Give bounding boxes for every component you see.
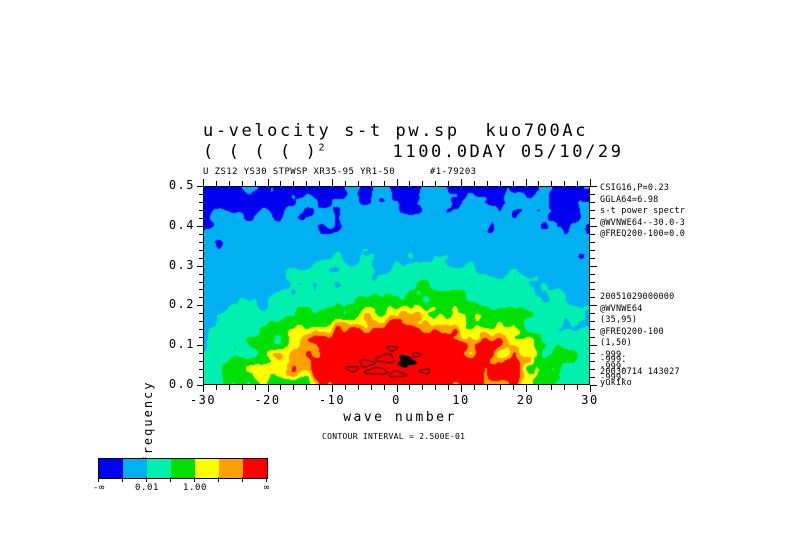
subtitle-metadata: U ZS12 YS30 STPWSP XR35-95 YR1-50 #1-792…: [203, 167, 476, 177]
y-axis-tick-label: 0.0: [149, 377, 195, 391]
y-axis-minor-tick: [199, 289, 204, 290]
x-axis-top-tick: [526, 179, 527, 186]
y-axis-right-tick: [590, 250, 595, 251]
x-axis-minor-tick: [409, 385, 410, 390]
x-axis-minor-tick: [319, 385, 320, 390]
y-axis-right-tick: [590, 202, 595, 203]
y-axis-minor-tick: [199, 210, 204, 211]
x-axis-top-tick: [551, 181, 552, 186]
x-axis-minor-tick: [371, 385, 372, 390]
y-axis-minor-tick: [199, 234, 204, 235]
y-axis-tick-label: 0.3: [149, 258, 195, 272]
y-axis-tick-mark: [197, 345, 204, 346]
x-axis-top-tick: [409, 181, 410, 186]
x-axis-minor-tick: [345, 385, 346, 390]
x-axis-minor-tick: [293, 385, 294, 390]
spectrum-heatmap-canvas: [204, 187, 589, 384]
x-axis-tick-mark: [590, 385, 591, 392]
y-axis-right-tick: [590, 297, 595, 298]
y-axis-right-tick: [590, 313, 595, 314]
y-axis-minor-tick: [199, 218, 204, 219]
y-axis-right-tick: [590, 353, 595, 354]
x-axis-top-tick: [538, 181, 539, 186]
x-axis-top-tick: [577, 181, 578, 186]
colorbar-tick-mark: [98, 477, 99, 482]
colorbar-swatch: [123, 459, 147, 478]
x-axis-top-tick: [461, 179, 462, 186]
y-axis-right-tick: [590, 210, 595, 211]
y-axis-tick-mark: [197, 266, 204, 267]
y-axis-tick-mark: [197, 186, 204, 187]
colorbar-swatch: [147, 459, 171, 478]
y-axis-minor-tick: [199, 361, 204, 362]
colorbar-ticks: [98, 477, 268, 482]
x-axis-top-tick: [564, 181, 565, 186]
y-axis-tick-label: 0.4: [149, 218, 195, 232]
y-axis-right-tick: [590, 345, 597, 346]
x-axis-top-tick: [384, 181, 385, 186]
y-axis-tick-label: 0.5: [149, 178, 195, 192]
y-axis-minor-tick: [199, 258, 204, 259]
colorbar-tick-mark: [218, 477, 219, 482]
colorbar-tick-label: 0.01: [134, 483, 160, 493]
x-axis-minor-tick: [538, 385, 539, 390]
title-secondary-line: ( ( ( ( )21100.0DAY 05/10/29: [203, 142, 624, 162]
x-axis-top-tick: [397, 179, 398, 186]
x-axis-top-tick: [345, 181, 346, 186]
x-axis-tick-mark: [268, 385, 269, 392]
x-axis-tick-mark: [332, 385, 333, 392]
y-axis-minor-tick: [199, 321, 204, 322]
colorbar-tick-mark: [170, 477, 171, 482]
x-axis-tick-label: -30: [178, 393, 228, 407]
x-axis-minor-tick: [551, 385, 552, 390]
x-axis-top-tick: [590, 179, 591, 186]
x-axis-top-tick: [293, 181, 294, 186]
x-axis-top-tick: [216, 181, 217, 186]
x-axis-top-tick: [474, 181, 475, 186]
x-axis-tick-label: -20: [243, 393, 293, 407]
annotation-block-top: CSIG16,P=0.23 GGLA64=6.98 s-t power spec…: [600, 183, 685, 241]
colorbar-swatch: [99, 459, 123, 478]
colorbar-tick-label: ∞: [254, 483, 280, 493]
page-title: u-velocity s-t pw.sp kuo700Ac: [203, 121, 588, 141]
contour-interval-caption: CONTOUR INTERVAL = 2.500E-01: [322, 432, 465, 441]
y-axis-minor-tick: [199, 242, 204, 243]
x-axis-minor-tick: [280, 385, 281, 390]
y-axis-right-tick: [590, 329, 595, 330]
y-axis-minor-tick: [199, 194, 204, 195]
x-axis-top-tick: [332, 179, 333, 186]
y-axis-right-tick: [590, 385, 597, 386]
contour-plot-area: [203, 186, 590, 385]
colorbar-tick-mark: [194, 477, 195, 482]
x-axis-tick-label: 10: [436, 393, 486, 407]
y-axis-minor-tick: [199, 297, 204, 298]
x-axis-minor-tick: [306, 385, 307, 390]
y-axis-minor-tick: [199, 369, 204, 370]
x-axis-top-tick: [229, 181, 230, 186]
x-axis-minor-tick: [422, 385, 423, 390]
y-axis-minor-tick: [199, 202, 204, 203]
y-axis-tick-mark: [197, 305, 204, 306]
x-axis-tick-mark: [526, 385, 527, 392]
x-axis-top-tick: [268, 179, 269, 186]
x-axis-minor-tick: [577, 385, 578, 390]
x-axis-minor-tick: [487, 385, 488, 390]
x-axis-minor-tick: [255, 385, 256, 390]
x-axis-tick-label: 30: [565, 393, 615, 407]
colorbar-swatch: [243, 459, 267, 478]
x-axis-top-tick: [203, 179, 204, 186]
colorbar-swatch: [219, 459, 243, 478]
y-axis-minor-tick: [199, 282, 204, 283]
y-axis-tick-label: 0.2: [149, 297, 195, 311]
x-axis-minor-tick: [564, 385, 565, 390]
x-axis-top-tick: [358, 181, 359, 186]
y-axis-right-tick: [590, 186, 597, 187]
x-axis-minor-tick: [448, 385, 449, 390]
y-axis-right-tick: [590, 321, 595, 322]
colorbar-tick-mark: [266, 477, 267, 482]
x-axis-minor-tick: [384, 385, 385, 390]
x-axis-top-tick: [487, 181, 488, 186]
x-axis-minor-tick: [474, 385, 475, 390]
x-axis-top-tick: [319, 181, 320, 186]
x-axis-top-tick: [422, 181, 423, 186]
x-axis-top-tick: [280, 181, 281, 186]
y-axis-tick-mark: [197, 226, 204, 227]
colorbar-swatch: [195, 459, 219, 478]
y-axis-right-tick: [590, 194, 595, 195]
x-axis-tick-label: 20: [501, 393, 551, 407]
x-axis-top-tick: [448, 181, 449, 186]
y-axis-right-tick: [590, 377, 595, 378]
title-superscript: 2: [319, 142, 325, 153]
title-day-date: 1100.0DAY 05/10/29: [393, 142, 624, 162]
annotation-block-bottom: -999. 20030714 143027 yukiko: [600, 355, 680, 390]
colorbar-tick-mark: [122, 477, 123, 482]
y-axis-right-tick: [590, 369, 595, 370]
colorbar-legend: [98, 458, 268, 479]
y-axis-minor-tick: [199, 353, 204, 354]
y-axis-minor-tick: [199, 274, 204, 275]
x-axis-tick-label: 0: [372, 393, 422, 407]
y-axis-minor-tick: [199, 329, 204, 330]
y-axis-right-tick: [590, 289, 595, 290]
x-axis-top-tick: [255, 181, 256, 186]
x-axis-top-tick: [371, 181, 372, 186]
y-axis-minor-tick: [199, 313, 204, 314]
y-axis-right-tick: [590, 266, 597, 267]
colorbar-tick-mark: [146, 477, 147, 482]
x-axis-tick-mark: [397, 385, 398, 392]
y-axis-right-tick: [590, 282, 595, 283]
x-axis-top-tick: [306, 181, 307, 186]
y-axis-right-tick: [590, 234, 595, 235]
x-axis-top-tick: [513, 181, 514, 186]
y-axis-minor-tick: [199, 250, 204, 251]
x-axis-label: wave number: [270, 410, 530, 425]
x-axis-minor-tick: [242, 385, 243, 390]
x-axis-minor-tick: [358, 385, 359, 390]
y-axis-minor-tick: [199, 337, 204, 338]
x-axis-minor-tick: [500, 385, 501, 390]
y-axis-minor-tick: [199, 377, 204, 378]
y-axis-tick-label: 0.1: [149, 337, 195, 351]
x-axis-tick-label: -10: [307, 393, 357, 407]
y-axis-right-tick: [590, 258, 595, 259]
y-axis-right-tick: [590, 242, 595, 243]
y-axis-right-tick: [590, 226, 597, 227]
colorbar-tick-label: 1.00: [182, 483, 208, 493]
y-axis-right-tick: [590, 337, 595, 338]
colorbar-swatch: [171, 459, 195, 478]
x-axis-minor-tick: [435, 385, 436, 390]
x-axis-top-tick: [500, 181, 501, 186]
y-axis-right-tick: [590, 274, 595, 275]
y-axis-right-tick: [590, 218, 595, 219]
x-axis-minor-tick: [229, 385, 230, 390]
x-axis-minor-tick: [216, 385, 217, 390]
y-axis-right-tick: [590, 305, 597, 306]
colorbar-tick-label: -∞: [86, 483, 112, 493]
x-axis-top-tick: [242, 181, 243, 186]
x-axis-top-tick: [435, 181, 436, 186]
title-paren-group: ( ( ( ( ): [203, 142, 319, 162]
colorbar-tick-mark: [242, 477, 243, 482]
x-axis-tick-mark: [203, 385, 204, 392]
x-axis-tick-mark: [461, 385, 462, 392]
y-axis-right-tick: [590, 361, 595, 362]
x-axis-minor-tick: [513, 385, 514, 390]
